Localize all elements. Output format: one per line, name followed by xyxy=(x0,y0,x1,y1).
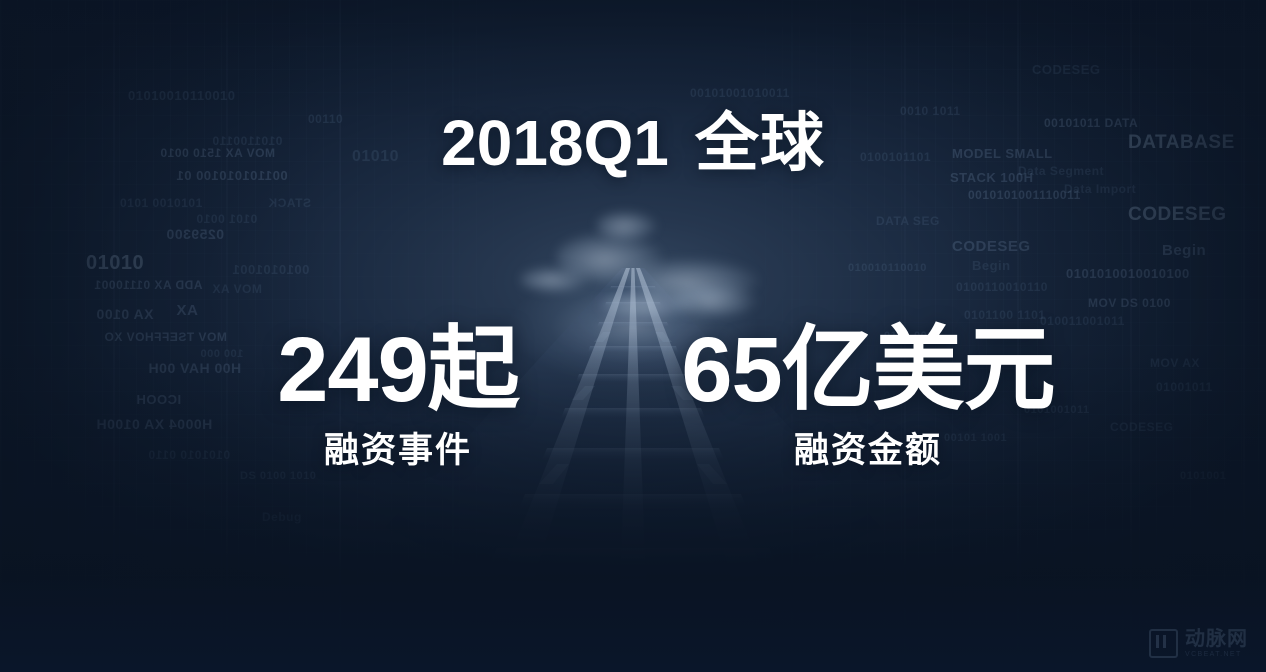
stat-label: 融资事件 xyxy=(163,432,633,471)
logo-mark-icon xyxy=(1149,629,1178,658)
page-title: 2018Q1全球 xyxy=(0,108,1266,180)
stat-label: 融资金额 xyxy=(633,432,1103,471)
watermark: 动脉网 VCBEAT.NET xyxy=(1149,629,1248,658)
watermark-name: 动脉网 xyxy=(1185,629,1248,649)
title-scope: 全球 xyxy=(695,107,825,179)
stat-value: 65亿美元 xyxy=(633,326,1103,414)
slide-canvas: 010100101100100101100110MOV AX 1510 0010… xyxy=(0,0,1266,672)
stat-financing-amount: 65亿美元 融资金额 xyxy=(633,326,1103,471)
title-period: 2018Q1 xyxy=(441,107,669,179)
stat-value: 249起 xyxy=(163,326,633,414)
stats-row: 249起 融资事件 65亿美元 融资金额 xyxy=(0,326,1266,471)
stat-financing-events: 249起 融资事件 xyxy=(163,326,633,471)
watermark-subtitle: VCBEAT.NET xyxy=(1185,651,1248,658)
watermark-text: 动脉网 VCBEAT.NET xyxy=(1185,629,1248,658)
